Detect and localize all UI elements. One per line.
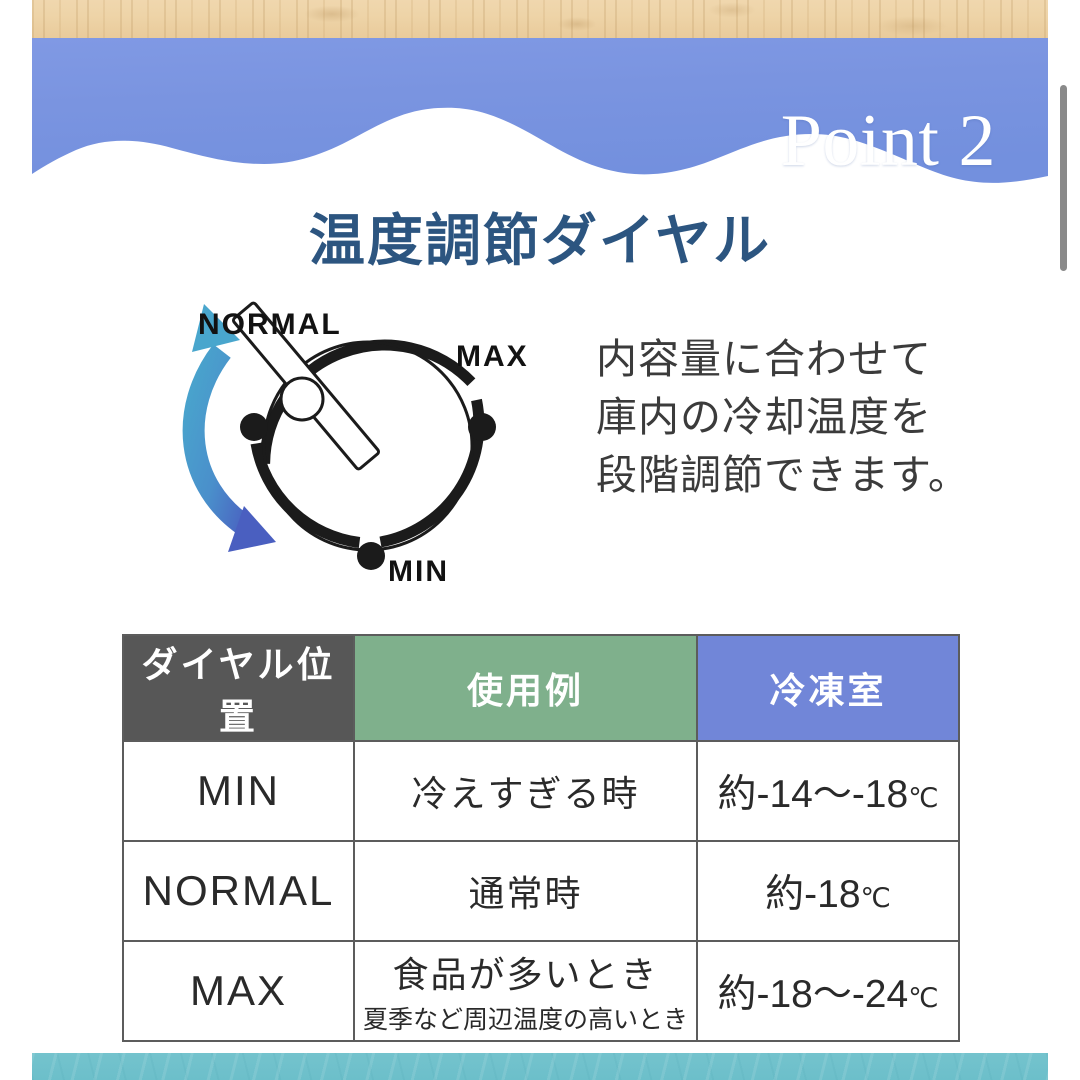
cell-usage-main: 冷えすぎる時 xyxy=(411,773,639,814)
table-row: MIN 冷えすぎる時 約-14～-18℃ xyxy=(123,741,959,841)
table-row: NORMAL 通常時 約-18℃ xyxy=(123,841,959,941)
cell-freezer-max: 約-18～-24℃ xyxy=(697,941,959,1041)
rotation-arrow-body xyxy=(194,351,248,528)
table-row: MAX 食品が多いとき 夏季など周辺温度の高いとき 約-18～-24℃ xyxy=(123,941,959,1041)
description-text: 内容量に合わせて 庫内の冷却温度を 段階調節できます。 xyxy=(596,330,976,505)
dial-label-min: MIN xyxy=(388,555,449,588)
table-header-dial-position: ダイヤル位置 xyxy=(123,635,354,741)
cell-usage-min: 冷えすぎる時 xyxy=(354,741,697,841)
cell-freezer-unit: ℃ xyxy=(908,983,938,1013)
table-header-row: ダイヤル位置 使用例 冷凍室 xyxy=(123,635,959,741)
table-header-usage: 使用例 xyxy=(354,635,697,741)
dial-dot-normal xyxy=(240,413,268,441)
footer-teal-texture xyxy=(32,1053,1048,1080)
cell-freezer-min: 約-14～-18℃ xyxy=(697,741,959,841)
dial-dot-max xyxy=(468,413,496,441)
cell-position-max: MAX xyxy=(123,941,354,1041)
dial-label-max: MAX xyxy=(456,340,529,373)
table-header-freezer: 冷凍室 xyxy=(697,635,959,741)
cell-freezer-unit: ℃ xyxy=(908,783,938,813)
wood-grain-knots xyxy=(32,0,1048,38)
cell-usage-max: 食品が多いとき 夏季など周辺温度の高いとき xyxy=(354,941,697,1041)
description-line-2: 庫内の冷却温度を xyxy=(596,388,976,446)
cell-freezer-value: 約-18 xyxy=(765,873,860,916)
dial-pointer-knob xyxy=(281,378,323,420)
dial-svg: NORMAL MAX MIN xyxy=(168,296,568,606)
cell-usage-main: 食品が多いとき xyxy=(392,954,658,995)
cell-usage-normal: 通常時 xyxy=(354,841,697,941)
dial-dot-min xyxy=(357,542,385,570)
blue-wave-banner: Point 2 xyxy=(32,38,1048,203)
dial-arc-min-to-normal xyxy=(256,444,360,543)
vertical-scrollbar[interactable] xyxy=(1060,85,1067,271)
cell-usage-sub: 夏季など周辺温度の高いとき xyxy=(355,1000,696,1036)
cell-position-min: MIN xyxy=(123,741,354,841)
page-title: 温度調節ダイヤル xyxy=(0,196,1080,277)
dial-label-normal: NORMAL xyxy=(198,308,342,341)
cell-freezer-value: 約-14～-18 xyxy=(717,773,908,816)
dial-arc-max-to-min xyxy=(381,400,479,542)
cell-freezer-unit: ℃ xyxy=(861,883,891,913)
dial-settings-table: ダイヤル位置 使用例 冷凍室 MIN 冷えすぎる時 約-14～-18℃ NORM… xyxy=(122,634,960,1042)
point-label: Point 2 xyxy=(781,104,996,178)
cell-freezer-value: 約-18～-24 xyxy=(717,973,908,1016)
cell-freezer-normal: 約-18℃ xyxy=(697,841,959,941)
cell-position-normal: NORMAL xyxy=(123,841,354,941)
cell-usage-main: 通常時 xyxy=(468,873,582,914)
page-root: Point 2 温度調節ダイヤル xyxy=(0,0,1080,1080)
description-line-1: 内容量に合わせて xyxy=(596,330,976,388)
temperature-dial-illustration: NORMAL MAX MIN xyxy=(168,296,568,606)
description-line-3: 段階調節できます。 xyxy=(596,446,976,504)
